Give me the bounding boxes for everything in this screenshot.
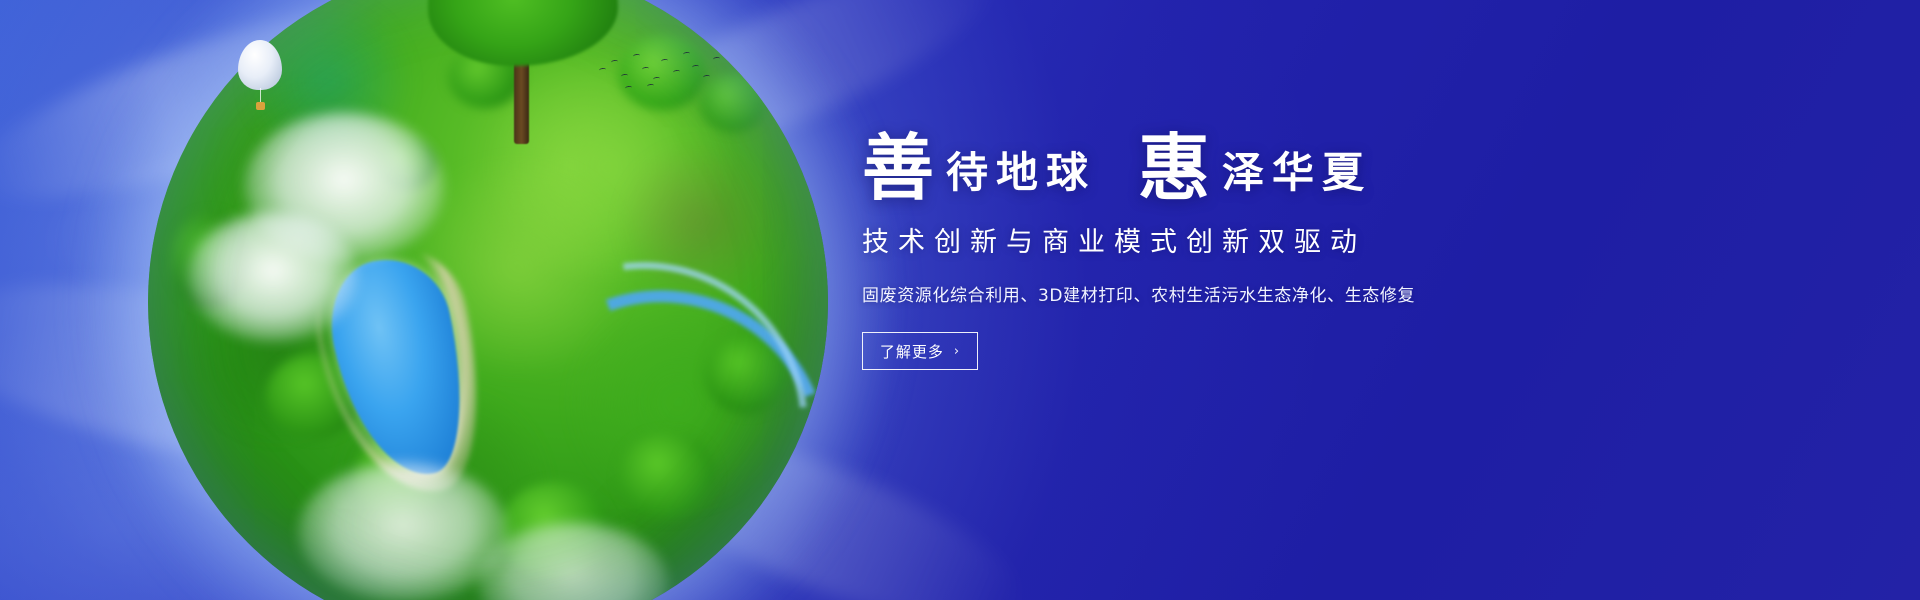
bird-icon (599, 68, 606, 73)
bird-icon (642, 67, 649, 72)
bird-flock (595, 48, 725, 90)
headline-char-1: 善 (862, 132, 936, 204)
headline-rest-1: 待地球 (946, 152, 1096, 194)
bird-icon (653, 77, 660, 82)
hero-banner: 善 待地球 惠 泽华夏 技术创新与商业模式创新双驱动 固废资源化综合利用、3D建… (0, 0, 1920, 600)
bird-icon (692, 65, 699, 70)
tree-canopy (428, 0, 618, 66)
balloon-basket (256, 102, 265, 110)
bird-icon (713, 57, 720, 62)
bird-icon (661, 59, 668, 64)
bird-icon (611, 60, 618, 65)
banner-description: 固废资源化综合利用、3D建材打印、农村生活污水生态净化、生态修复 (862, 281, 1562, 306)
learn-more-button[interactable]: 了解更多 › (862, 332, 978, 370)
bird-icon (625, 86, 632, 91)
hot-air-balloon (238, 40, 282, 114)
bird-icon (621, 74, 628, 79)
headline: 善 待地球 惠 泽华夏 (862, 128, 1562, 200)
bird-icon (673, 70, 680, 75)
learn-more-label: 了解更多 (880, 341, 944, 362)
headline-rest-2: 泽华夏 (1222, 152, 1372, 194)
chevron-right-icon: › (954, 345, 960, 358)
headline-char-2: 惠 (1138, 132, 1212, 204)
banner-content: 善 待地球 惠 泽华夏 技术创新与商业模式创新双驱动 固废资源化综合利用、3D建… (862, 128, 1562, 370)
balloon-envelope (238, 40, 282, 90)
bird-icon (683, 52, 690, 57)
bird-icon (703, 75, 710, 80)
banner-subtitle: 技术创新与商业模式创新双驱动 (862, 220, 1562, 259)
bird-icon (647, 84, 654, 89)
large-tree (428, 0, 618, 116)
balloon-rope (260, 88, 261, 103)
bird-icon (633, 54, 640, 59)
